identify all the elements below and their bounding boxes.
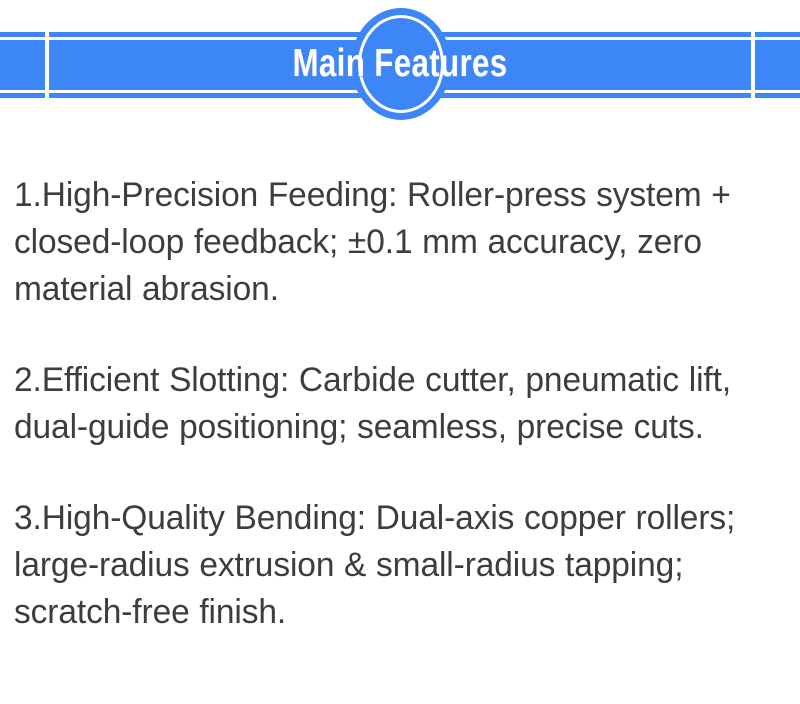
banner-right-notch — [751, 32, 755, 98]
page-title: Main Features — [80, 40, 720, 88]
main-features-banner: Main Features — [0, 0, 800, 130]
feature-item: 3.High-Quality Bending: Dual-axis copper… — [14, 495, 780, 636]
feature-item: 1.High-Precision Feeding: Roller-press s… — [14, 172, 780, 313]
features-list: 1.High-Precision Feeding: Roller-press s… — [14, 172, 792, 636]
banner-left-notch — [45, 32, 49, 98]
feature-item: 2.Efficient Slotting: Carbide cutter, pn… — [14, 357, 780, 451]
